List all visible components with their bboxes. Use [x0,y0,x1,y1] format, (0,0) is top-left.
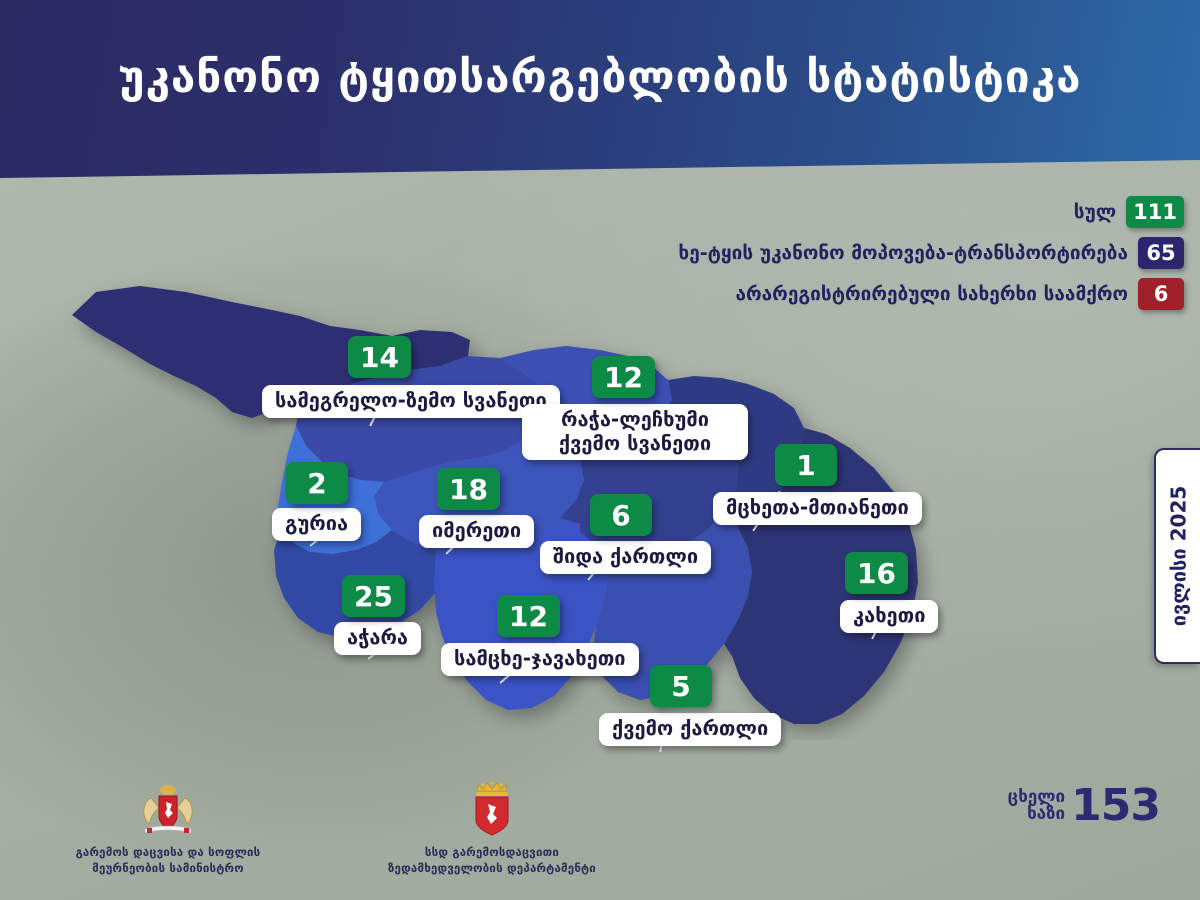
logo-block-department: სსდ გარემოსდაცვითი ზედამხედველობის დეპარ… [384,782,600,877]
region-count-badge: 12 [592,356,655,398]
region-count-badge: 25 [342,575,405,617]
region-label: მცხეთა-მთიანეთი [713,492,922,525]
legend-value-chip: 6 [1138,278,1184,310]
footer-logos: გარემოს დაცვისა და სოფლის მეურნეობის სამ… [60,782,600,877]
region-count-badge: 18 [437,468,500,510]
logo-block-ministry: გარემოს დაცვისა და სოფლის მეურნეობის სამ… [60,782,276,877]
region-count-badge: 12 [497,595,560,637]
page-title: უკანონო ტყითსარგებლობის სტატისტიკა [0,52,1200,103]
hotline-words: ცხელი ხაზი [1008,789,1066,824]
legend-row: სულ111 [1074,196,1184,228]
region-label: იმერეთი [419,515,534,548]
logo-caption-department: სსდ გარემოსდაცვითი ზედამხედველობის დეპარ… [384,845,600,877]
region-label: კახეთი [840,600,938,633]
region-count-badge: 14 [348,336,411,378]
date-tab: ივლისი 2025 [1154,448,1200,664]
region-count-badge: 1 [775,444,837,486]
region-label: აჭარა [334,622,421,655]
legend-label: სულ [1074,201,1116,223]
region-count-badge: 16 [845,552,908,594]
logo-caption-ministry: გარემოს დაცვისა და სოფლის მეურნეობის სამ… [60,845,276,877]
hotline-number: 153 [1071,786,1160,826]
header-banner: უკანონო ტყითსარგებლობის სტატისტიკა [0,0,1200,178]
environmental-supervision-emblem-icon [469,782,515,838]
georgia-coat-of-arms-icon [137,782,199,838]
region-count-badge: 6 [590,494,652,536]
date-label: ივლისი 2025 [1166,486,1190,627]
region-label: სამცხე-ჯავახეთი [441,643,639,676]
legend-value-chip: 65 [1138,237,1184,269]
region-count-badge: 2 [286,462,348,504]
region-label: გურია [272,508,361,541]
region-label: სამეგრელო-ზემო სვანეთი [262,385,560,418]
region-label: შიდა ქართლი [540,541,711,574]
region-label: ქვემო ქართლი [599,713,781,746]
region-label: რაჭა-ლეჩხუმი ქვემო სვანეთი [522,404,748,460]
hotline-badge: ცხელი ხაზი 153 [1008,786,1160,826]
legend-value-chip: 111 [1126,196,1184,228]
region-count-badge: 5 [650,665,712,707]
hotline-line2: ხაზი [1008,806,1066,824]
